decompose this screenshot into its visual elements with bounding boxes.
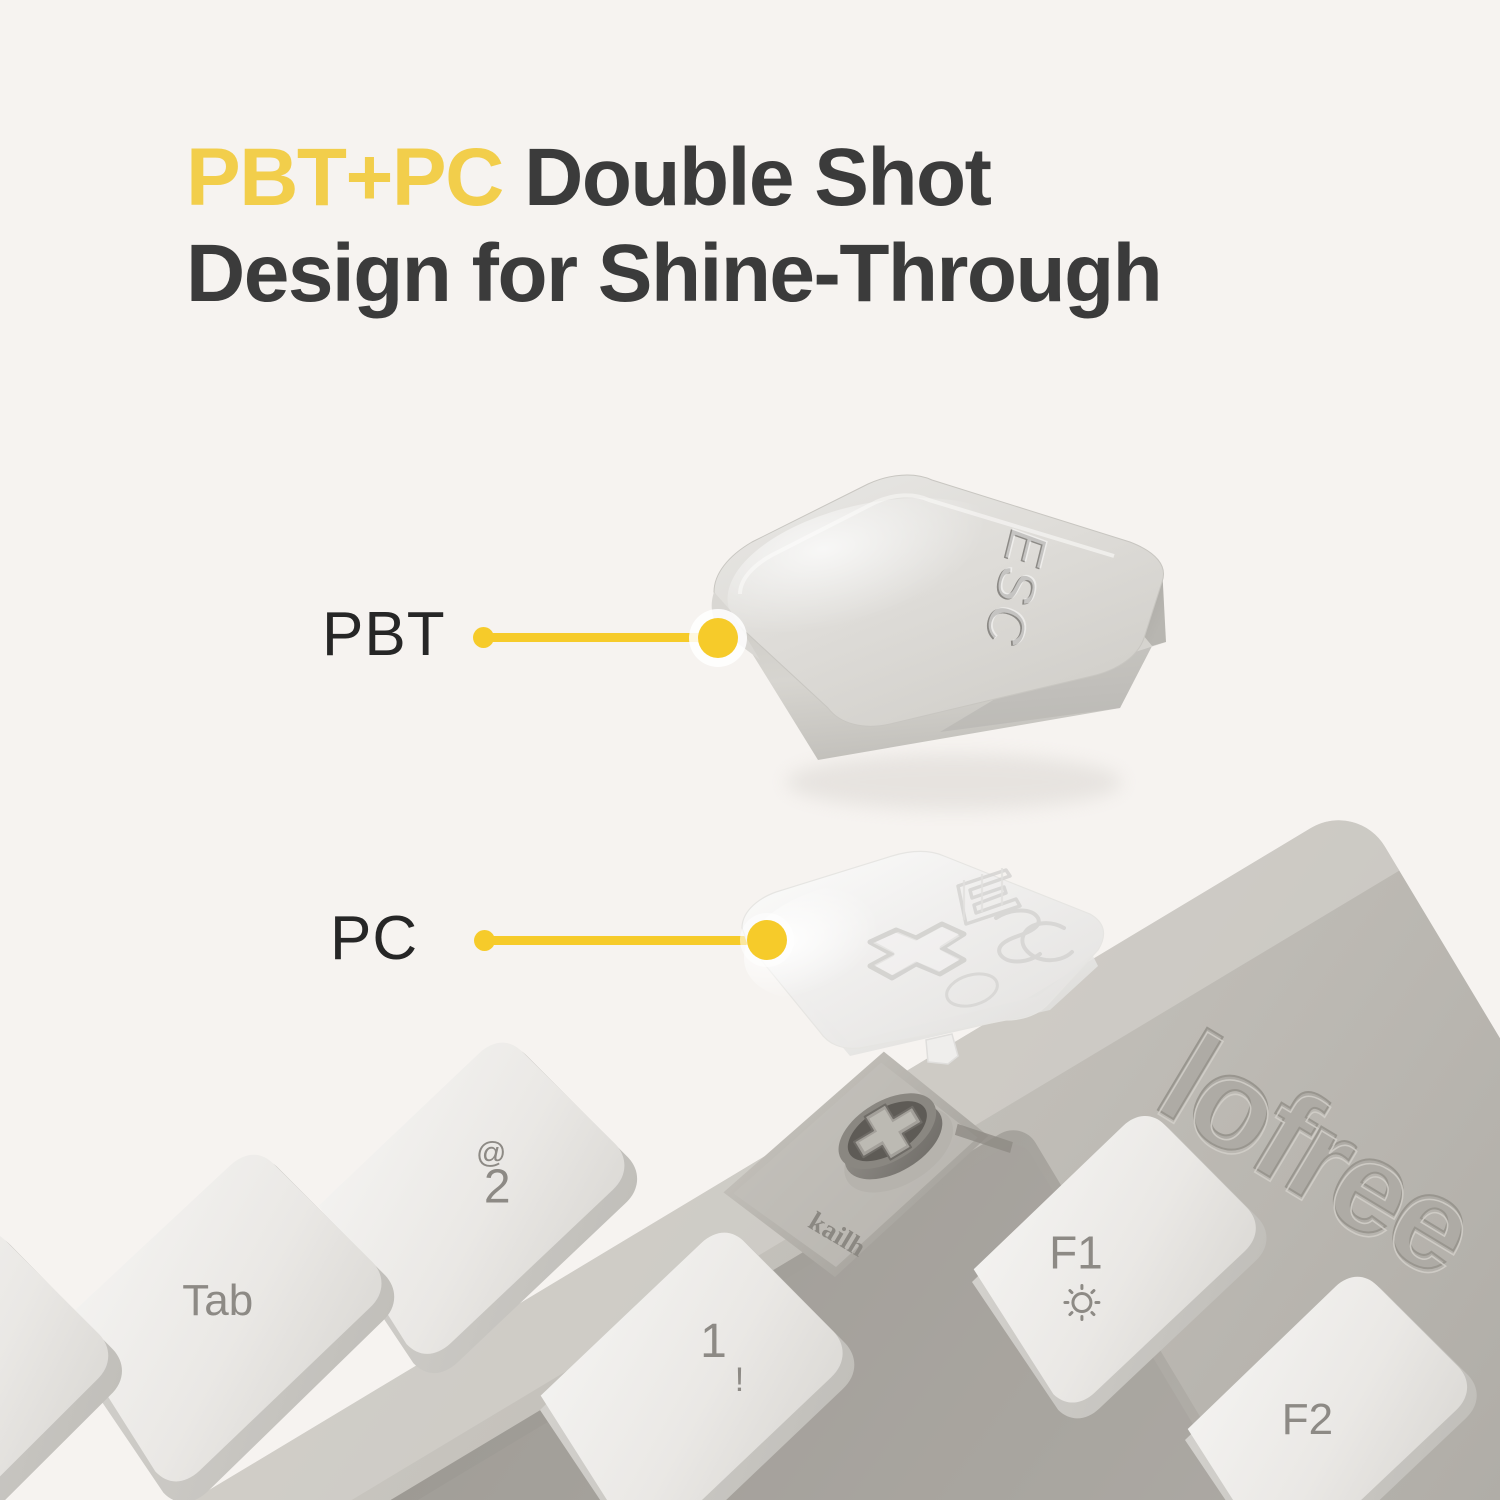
- leader-dot-large-pc: [747, 920, 787, 960]
- leader-dot-large-pbt: [698, 618, 738, 658]
- callout-label-pc: PC: [330, 908, 418, 970]
- svg-text:2: 2: [484, 1161, 511, 1214]
- callout-label-pbt: PBT: [322, 604, 446, 666]
- svg-text:F2: F2: [1282, 1395, 1333, 1444]
- headline-accent-text: PBT+PC: [186, 132, 503, 223]
- pc-underside-piece: [720, 850, 1120, 1080]
- keyboard-closeup: lofree lofree kailh: [0, 1010, 1500, 1500]
- svg-text:!: !: [735, 1361, 744, 1399]
- svg-text:Tab: Tab: [182, 1276, 253, 1325]
- leader-line-pbt: [481, 633, 719, 642]
- headline-line-1-rest: Double Shot: [503, 132, 991, 223]
- svg-text:F1: F1: [1049, 1227, 1103, 1279]
- svg-text:1: 1: [700, 1315, 727, 1368]
- pc-piece-stem-nub: [926, 1034, 958, 1064]
- headline-line-2: Design for Shine-Through: [186, 226, 1386, 322]
- page-title: PBT+PC Double Shot Design for Shine-Thro…: [186, 130, 1386, 322]
- esc-keycap-pbt: ESC ESC: [700, 470, 1180, 810]
- product-marketing-image: PBT+PC Double Shot Design for Shine-Thro…: [0, 0, 1500, 1500]
- headline-line-1: PBT+PC Double Shot: [186, 130, 1386, 226]
